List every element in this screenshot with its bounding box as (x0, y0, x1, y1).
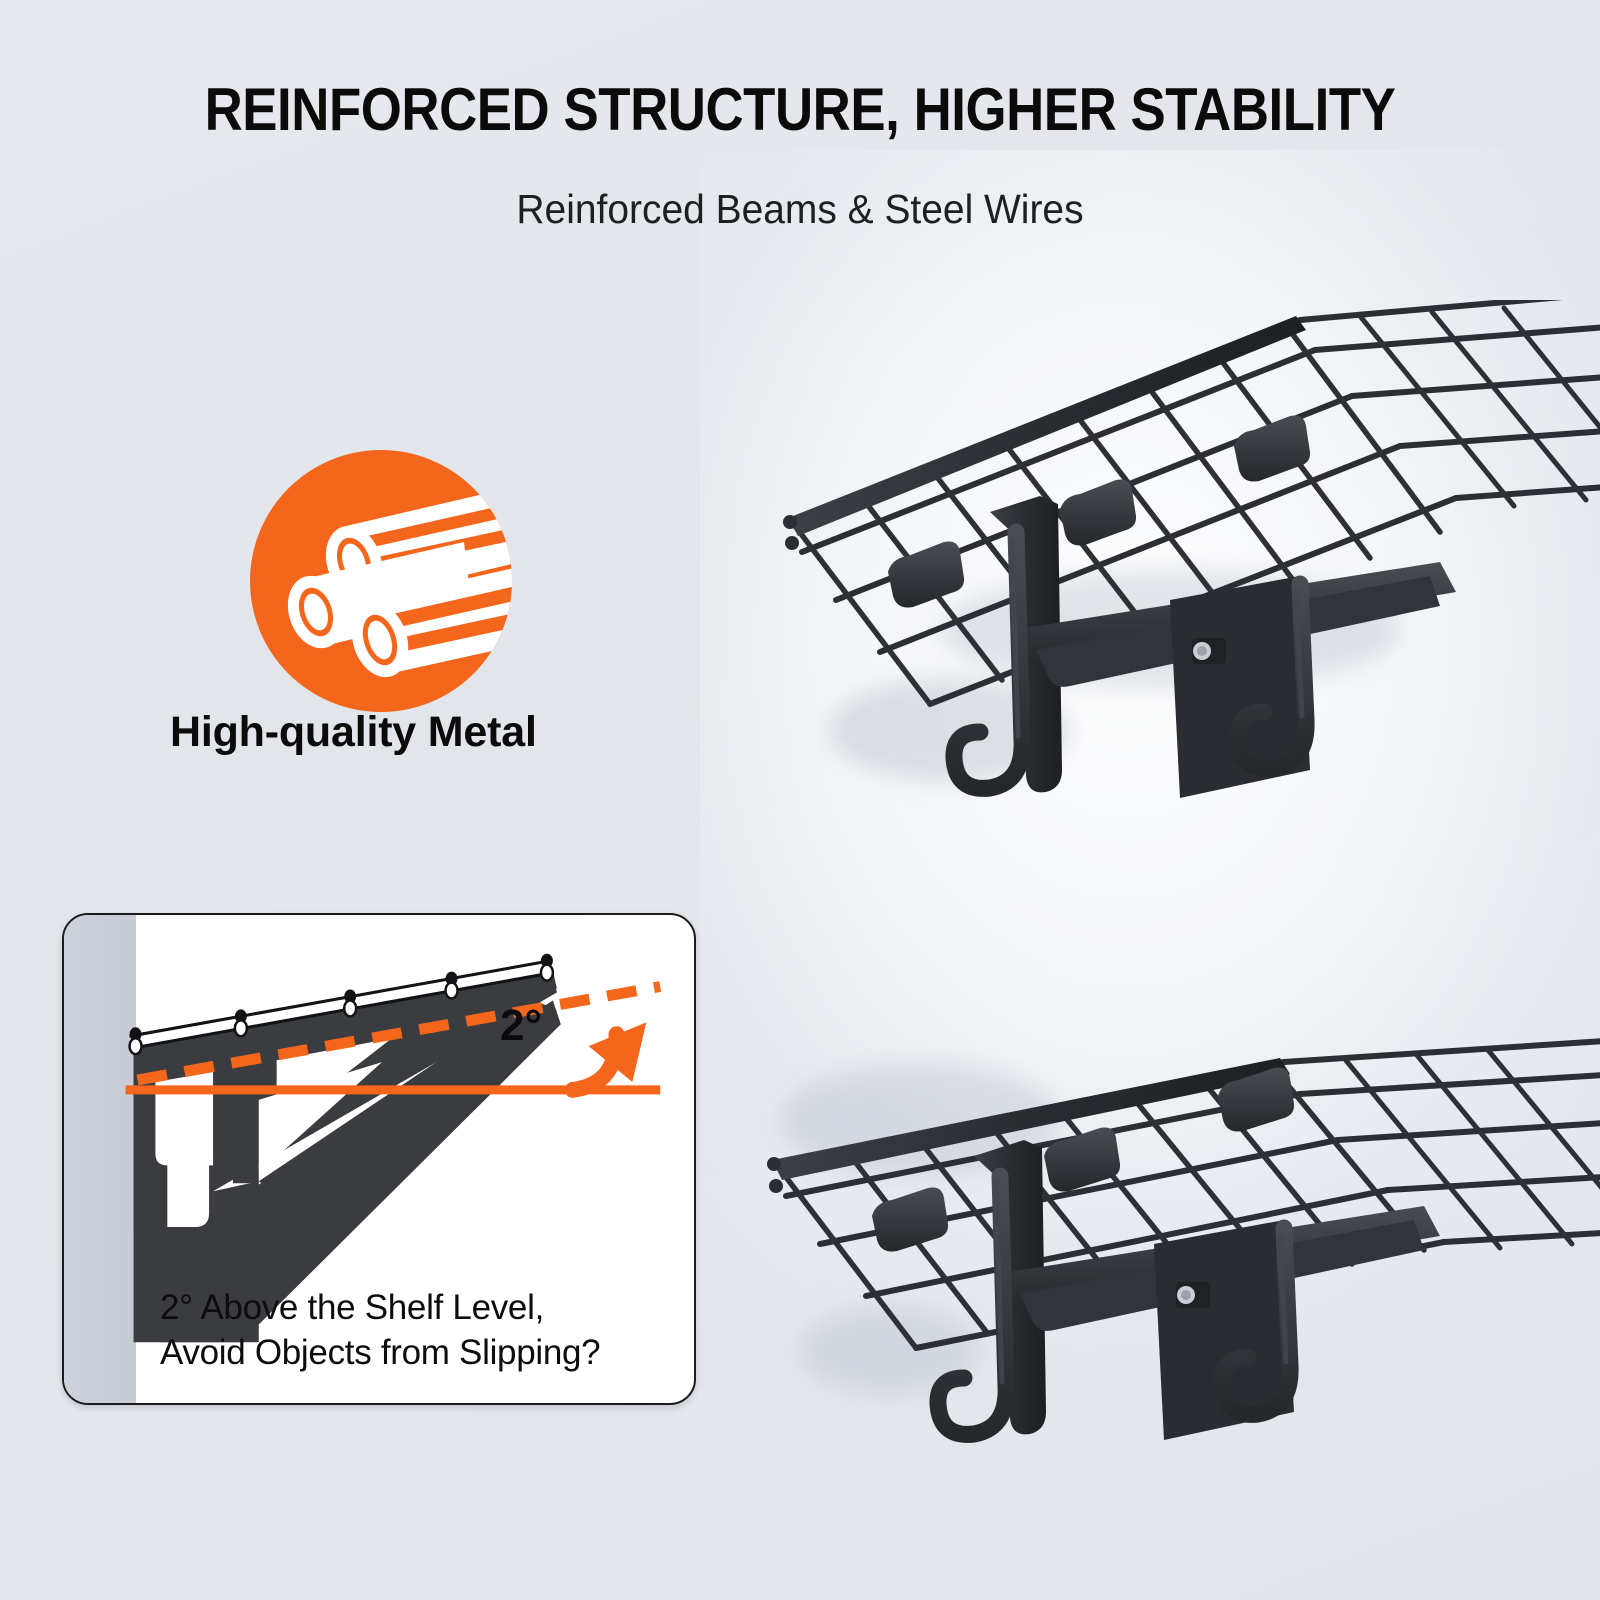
wall-shelf-lower (740, 1000, 1600, 1540)
page-subheadline: Reinforced Beams & Steel Wires (40, 186, 1560, 233)
promo-canvas: REINFORCED STRUCTURE, HIGHER STABILITY R… (0, 0, 1600, 1600)
caption-line-1: 2° Above the Shelf Level, (160, 1286, 672, 1330)
curved-up-arrow-icon (573, 1022, 647, 1090)
wall-shelf-upper (740, 300, 1600, 860)
angle-label: 2° (500, 1001, 542, 1051)
tilt-explainer-card: 2° 2° Above the Shelf Level, Avoid Objec… (62, 913, 696, 1405)
page-headline: REINFORCED STRUCTURE, HIGHER STABILITY (96, 78, 1504, 141)
caption-line-2: Avoid Objects from Slipping? (160, 1331, 672, 1375)
badge-label: High-quality Metal (40, 708, 730, 757)
card-caption: 2° Above the Shelf Level, Avoid Objects … (160, 1286, 672, 1375)
high-quality-metal-badge (250, 450, 512, 712)
metal-tubes-icon (250, 450, 512, 712)
